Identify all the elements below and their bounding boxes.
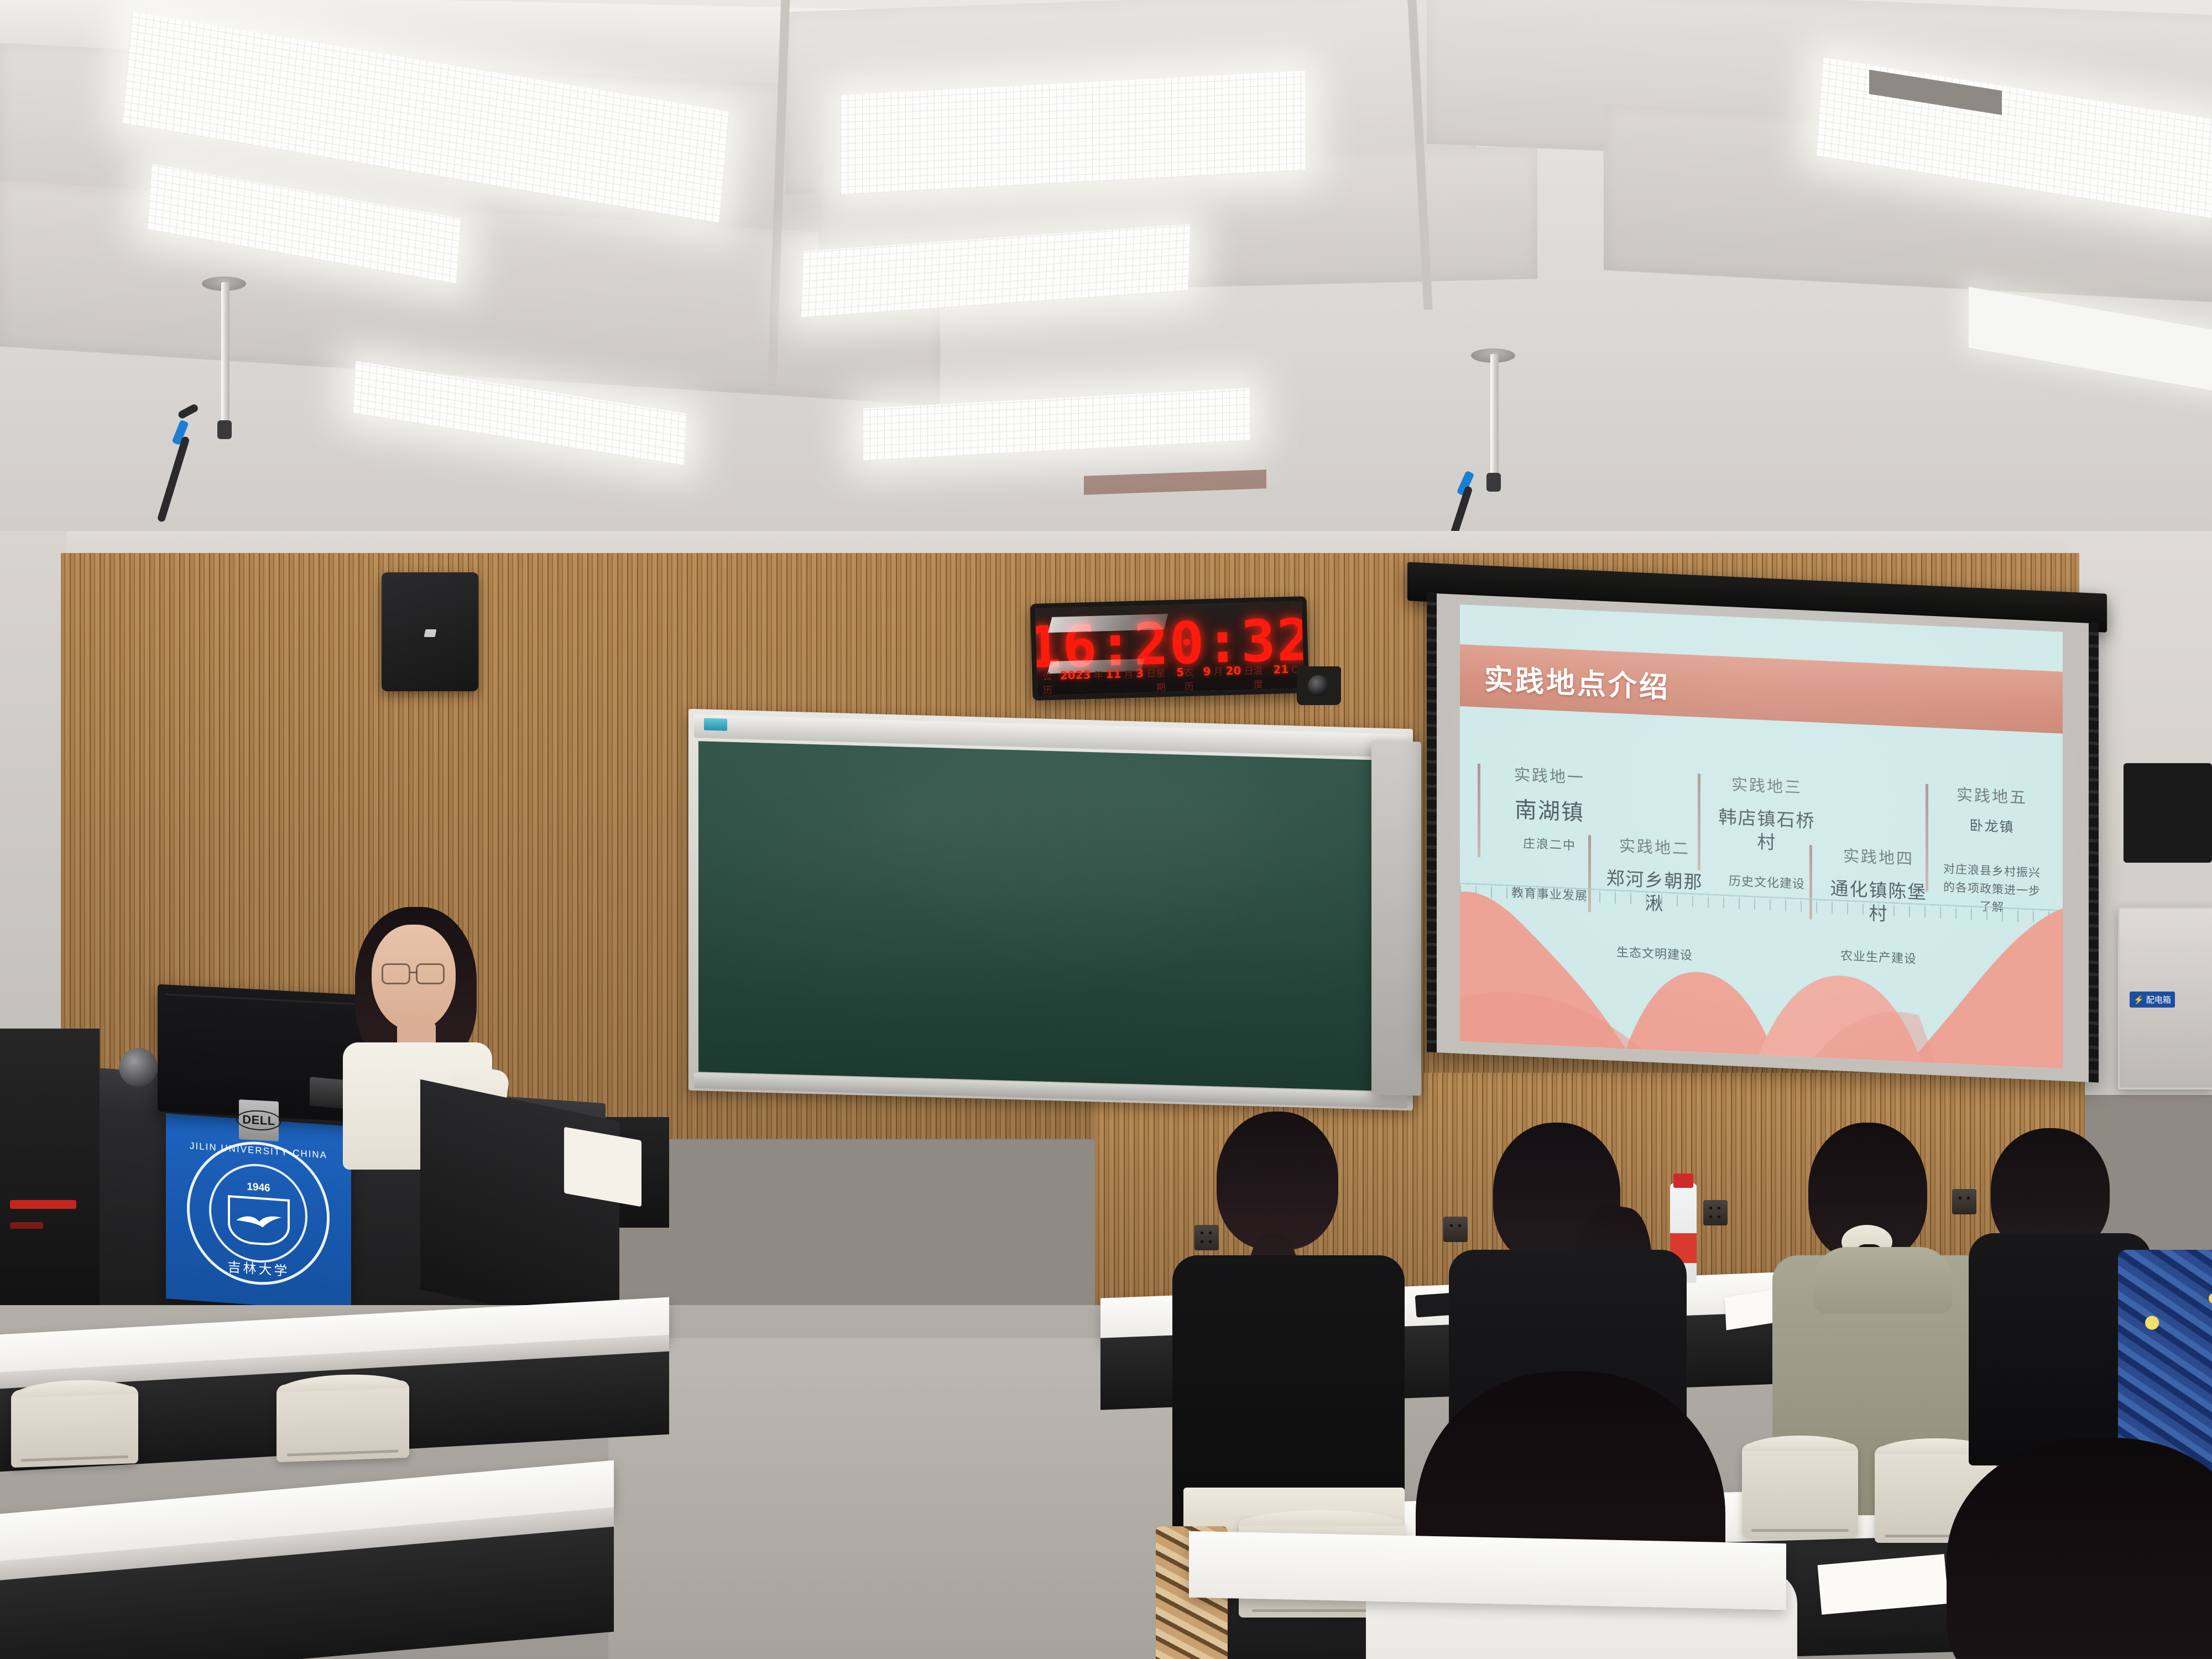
desk-row-foreground — [1189, 1531, 1786, 1610]
wall-socket — [1194, 1225, 1219, 1250]
clock-month-unit: 月 — [1124, 666, 1134, 680]
podium-right-wing — [420, 1079, 619, 1332]
column-4-kicker: 实践地四 — [1826, 842, 1931, 870]
console-knob — [119, 1048, 158, 1087]
column-accent-bar — [1698, 774, 1700, 870]
clock-month: 11 — [1105, 667, 1121, 681]
rack-indicator-strip — [10, 1222, 43, 1229]
blackboard-slide-panel — [1371, 740, 1421, 1095]
mic-pole-head — [1486, 473, 1501, 492]
wall-equipment-box — [2124, 763, 2212, 863]
clock-weekday-label: 星期 — [1156, 665, 1175, 693]
wall-socket — [1703, 1200, 1728, 1225]
clock-lunar-month: 9 — [1203, 665, 1211, 678]
mic-pole — [221, 282, 229, 429]
column-3-place: 韩店镇石桥村 — [1714, 805, 1819, 857]
wall-socket — [1952, 1189, 1976, 1214]
monitor-stand: DELL — [239, 1099, 279, 1141]
chair[interactable] — [276, 1380, 409, 1462]
rack-indicator-strip — [10, 1200, 76, 1209]
column-5-place: 卧龙镇 — [1942, 816, 2042, 838]
wall-speaker — [382, 572, 478, 691]
slide-title: 实践地点介绍 — [1484, 656, 1670, 706]
classroom-scene: ⚡ 配电箱 16:20:32 公历 2023 年 11 月 3 日 星期 5 农… — [0, 0, 2212, 1659]
clock-day-unit: 日 — [1146, 666, 1156, 680]
student-hair — [1217, 1112, 1338, 1250]
ceiling-camera — [1297, 666, 1341, 705]
podium-paper-tray — [564, 1127, 641, 1207]
screen-right-rail — [2089, 623, 2099, 1083]
column-2-kicker: 实践地二 — [1605, 832, 1704, 860]
column-1-place: 南湖镇 — [1494, 795, 1605, 828]
water-bottle-cap — [1673, 1173, 1693, 1188]
clock-weekday: 5 — [1176, 665, 1185, 679]
wall-socket — [1443, 1217, 1468, 1242]
dell-logo: DELL — [236, 1109, 281, 1131]
presentation-slide: 实践地点介绍 实践地一 南湖镇 庄浪二中 教育事业发展 实践地二 郑河乡朝那湫 … — [1460, 604, 2063, 1068]
clock-year: 2023 — [1060, 668, 1091, 682]
clock-temp-label: 温度 — [1253, 662, 1271, 691]
presenter-glasses-bridge — [410, 972, 417, 973]
electrical-panel: ⚡ 配电箱 — [2118, 907, 2212, 1089]
left-wall — [0, 531, 66, 1084]
clock-lunar-month-unit: 月 — [1213, 664, 1223, 677]
clock-lunar-label: 农历 — [1184, 664, 1201, 692]
digital-wall-clock: 16:20:32 公历 2023 年 11 月 3 日 星期 5 农历 9 月 … — [1030, 596, 1310, 701]
podium-plaque: 1946 吉林大学 JILIN UNIVERSITY·CHINA — [166, 1113, 351, 1311]
clock-year-unit: 年 — [1093, 667, 1103, 681]
university-seal-english-label: JILIN UNIVERSITY·CHINA — [166, 1139, 351, 1162]
clock-temp: 21 — [1273, 662, 1289, 676]
column-1-kicker: 实践地一 — [1494, 761, 1605, 789]
electrical-warning-badge: ⚡ 配电箱 — [2130, 992, 2175, 1008]
chair[interactable] — [11, 1386, 138, 1468]
clock-lunar-day: 20 — [1225, 664, 1241, 677]
screen-left-rail — [1427, 593, 1437, 1052]
blackboard-frame — [688, 709, 1413, 1111]
presenter-glasses-left-lens — [382, 963, 410, 984]
column-accent-bar — [1478, 764, 1480, 858]
presenter-glasses-right-lens — [416, 963, 445, 984]
university-seal-english-text: JILIN UNIVERSITY·CHINA — [166, 1113, 351, 1311]
slide-mountain-graphic — [1460, 859, 2063, 1068]
clock-day: 3 — [1136, 666, 1144, 680]
hoodie-hood — [1814, 1247, 1952, 1313]
projector-screen: 实践地点介绍 实践地一 南湖镇 庄浪二中 教育事业发展 实践地二 郑河乡朝那湫 … — [1427, 593, 2099, 1082]
clock-info-row: 公历 2023 年 11 月 3 日 星期 5 农历 9 月 20 日 温度 — [1042, 666, 1298, 692]
blackboard-surface — [698, 741, 1403, 1092]
column-5-kicker: 实践地五 — [1942, 781, 2042, 809]
blackboard-sticker — [704, 718, 727, 731]
column-3-kicker: 实践地三 — [1714, 771, 1819, 799]
mic-pole — [1490, 354, 1499, 481]
chair[interactable] — [1742, 1443, 1858, 1537]
column-accent-bar — [1926, 784, 1928, 891]
clock-lunar-day-unit: 日 — [1244, 663, 1254, 677]
clock-gregorian-label: 公历 — [1042, 669, 1058, 697]
equipment-rack — [0, 1029, 100, 1305]
mic-pole-head — [217, 420, 232, 439]
